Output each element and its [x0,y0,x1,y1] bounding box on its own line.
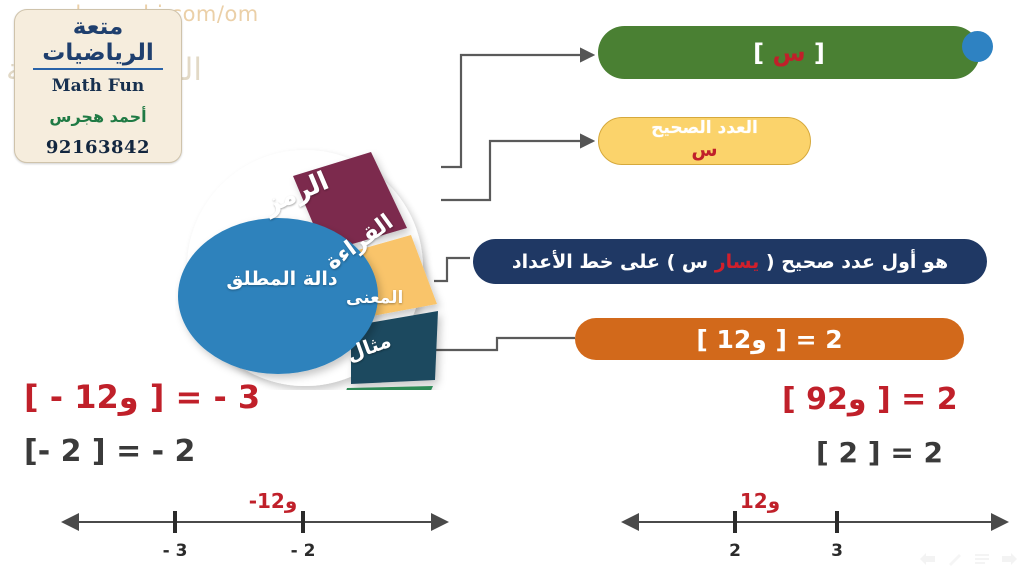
right-tick-label-0: 2 [729,541,741,561]
slide-canvas: almanahj.com/om المناهج العمانية متعة ال… [0,0,1024,575]
callout-example-text: [ 1و2 ] = 2 [696,325,842,354]
bracket-open: [ [814,39,825,67]
equation-right-1: [ 9و2 ] = 2 [782,382,958,417]
meaning-highlight: يسار [715,251,760,273]
equation-right-2: [ 2 ] = 2 [816,436,943,469]
logo-divider [33,68,163,70]
left-tick-label-0: - 3 [163,541,188,561]
meaning-part2: س ) على خط الأعداد [512,251,708,273]
callout-reading-line2: س [691,141,717,160]
right-tick-label-1: 3 [831,541,843,561]
absolute-value-wheel-diagram: الرمز القراءة المعنى مثال دالة المطلق [175,140,465,390]
callout-meaning: هو أول عدد صحيح ( يسار س ) على خط الأعدا… [473,239,987,284]
equation-left-1: [ - 1و2 ] = - 3 [24,378,260,416]
right-marker-label: 1و2 [740,489,780,513]
meaning-part1: هو أول عدد صحيح ( [766,251,948,273]
left-tick-label-1: - 2 [291,541,316,561]
logo-author: أحمد هجرس [15,107,181,126]
right-number-line-axis [615,505,1015,539]
equation-left-2: [- 2 ] = - 2 [24,434,195,469]
left-number-line: - 3 - 2 -1و2 [55,505,455,569]
bracket-close: ] [753,39,764,67]
callout-meaning-text: هو أول عدد صحيح ( يسار س ) على خط الأعدا… [512,251,948,273]
callout-symbol-bullet-dot [962,31,993,62]
left-marker-label: -1و2 [249,489,298,513]
right-number-line: 2 3 1و2 [615,505,1015,569]
callout-symbol: [ س ] [598,26,980,79]
callout-reading-line1: العدد الصحيح [651,120,758,137]
symbol-variable: س [772,39,805,67]
wheel-label-meaning: المعنى [346,288,403,308]
logo-title-arabic: متعة الرياضيات [15,14,181,67]
wheel-center-label: دالة المطلق [197,268,367,290]
logo-card: متعة الرياضيات Math Fun أحمد هجرس 921638… [14,9,182,163]
wheel-segment-example [333,386,433,390]
callout-symbol-text: [ س ] [753,39,825,67]
callout-example: [ 1و2 ] = 2 [575,318,964,360]
callout-reading: العدد الصحيح س [598,117,811,165]
logo-title-english: Math Fun [15,76,181,96]
logo-phone: 92163842 [15,137,181,158]
